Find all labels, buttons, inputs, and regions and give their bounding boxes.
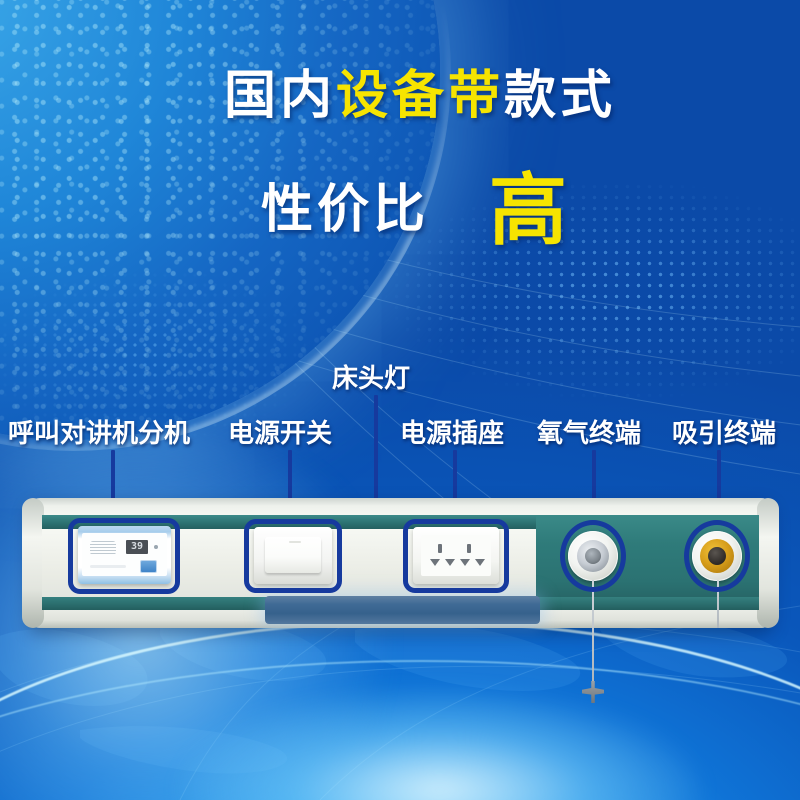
headline-accent: 高: [489, 148, 569, 260]
product-banner: 国内设备带款式 性价比 高 呼叫对讲机分机 电源开关 床头灯 电源插座 氧气终端…: [0, 0, 800, 800]
callout-label-suction-terminal: 吸引终端: [672, 413, 776, 450]
headline-line-1: 国内设备带款式: [0, 70, 800, 122]
bedside-lamp-diffuser[interactable]: [265, 596, 540, 624]
panel-end-cap-left: [22, 498, 44, 628]
headline-value-label: 性价比: [261, 167, 429, 242]
oxygen-pull-cord[interactable]: [592, 580, 594, 685]
callout-label-oxygen-terminal: 氧气终端: [537, 413, 641, 450]
highlight-ring-oxygen: [560, 520, 626, 592]
headline-block: 国内设备带款式 性价比 高: [0, 70, 800, 260]
callout-label-power-switch: 电源开关: [228, 413, 332, 450]
headline-part-1: 国内: [224, 66, 336, 126]
headline-line-2: 性价比 高: [0, 148, 800, 260]
callout-label-power-socket: 电源插座: [400, 413, 504, 450]
callout-label-bedside-lamp: 床头灯: [332, 358, 410, 395]
headline-part-2: 设备带: [336, 66, 504, 126]
highlight-ring-suction: [684, 520, 750, 592]
highlight-box-socket: [403, 519, 509, 593]
panel-end-cap-right: [757, 498, 779, 628]
headline-part-3: 款式: [504, 66, 616, 126]
highlight-box-switch: [244, 519, 342, 593]
callout-label-call-intercom-extension: 呼叫对讲机分机: [8, 413, 190, 450]
highlight-box-intercom: [68, 518, 180, 594]
